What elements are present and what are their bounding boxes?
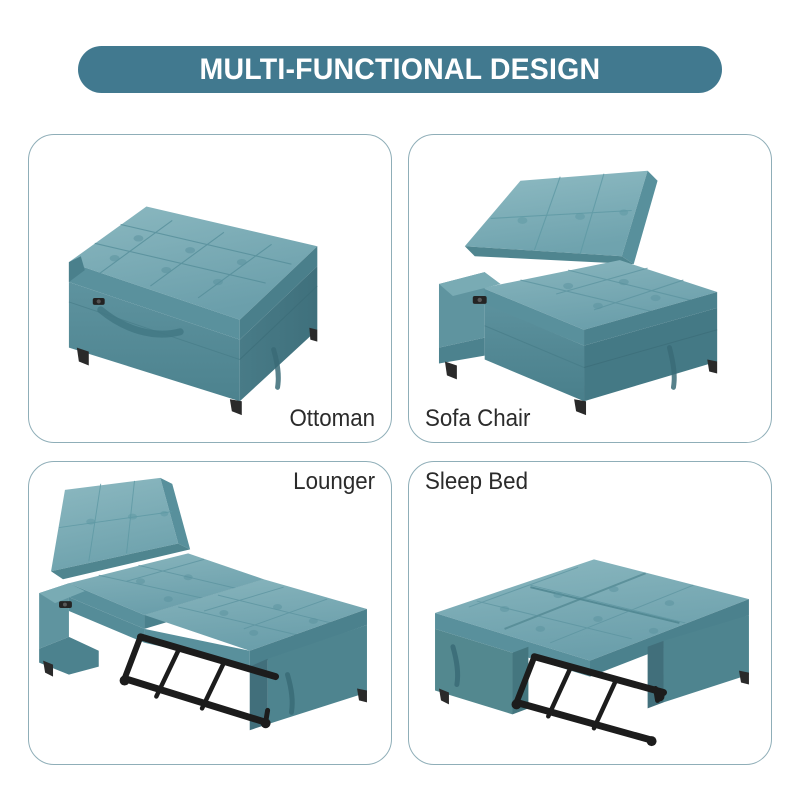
panel-label-sofa-chair: Sofa Chair xyxy=(425,405,530,433)
panel-ottoman: Ottoman xyxy=(28,134,392,443)
header-banner: MULTI-FUNCTIONAL DESIGN xyxy=(78,46,722,93)
panel-label-ottoman: Ottoman xyxy=(289,405,375,433)
sleep-bed-illustration xyxy=(409,462,771,764)
page-title: MULTI-FUNCTIONAL DESIGN xyxy=(200,53,601,87)
panel-sofa-chair: Sofa Chair xyxy=(408,134,772,443)
panel-label-lounger: Lounger xyxy=(293,468,375,496)
latch-hardware xyxy=(93,298,105,305)
panel-sleep-bed: Sleep Bed xyxy=(408,461,772,765)
metal-support-frame xyxy=(516,657,663,740)
hinge-hardware xyxy=(59,601,72,608)
ottoman-illustration xyxy=(29,135,391,442)
sofa-chair-illustration xyxy=(409,135,771,442)
panel-label-sleep-bed: Sleep Bed xyxy=(425,468,528,496)
lounger-illustration xyxy=(29,462,391,764)
panel-lounger: Lounger xyxy=(28,461,392,765)
hinge-hardware xyxy=(473,296,487,304)
